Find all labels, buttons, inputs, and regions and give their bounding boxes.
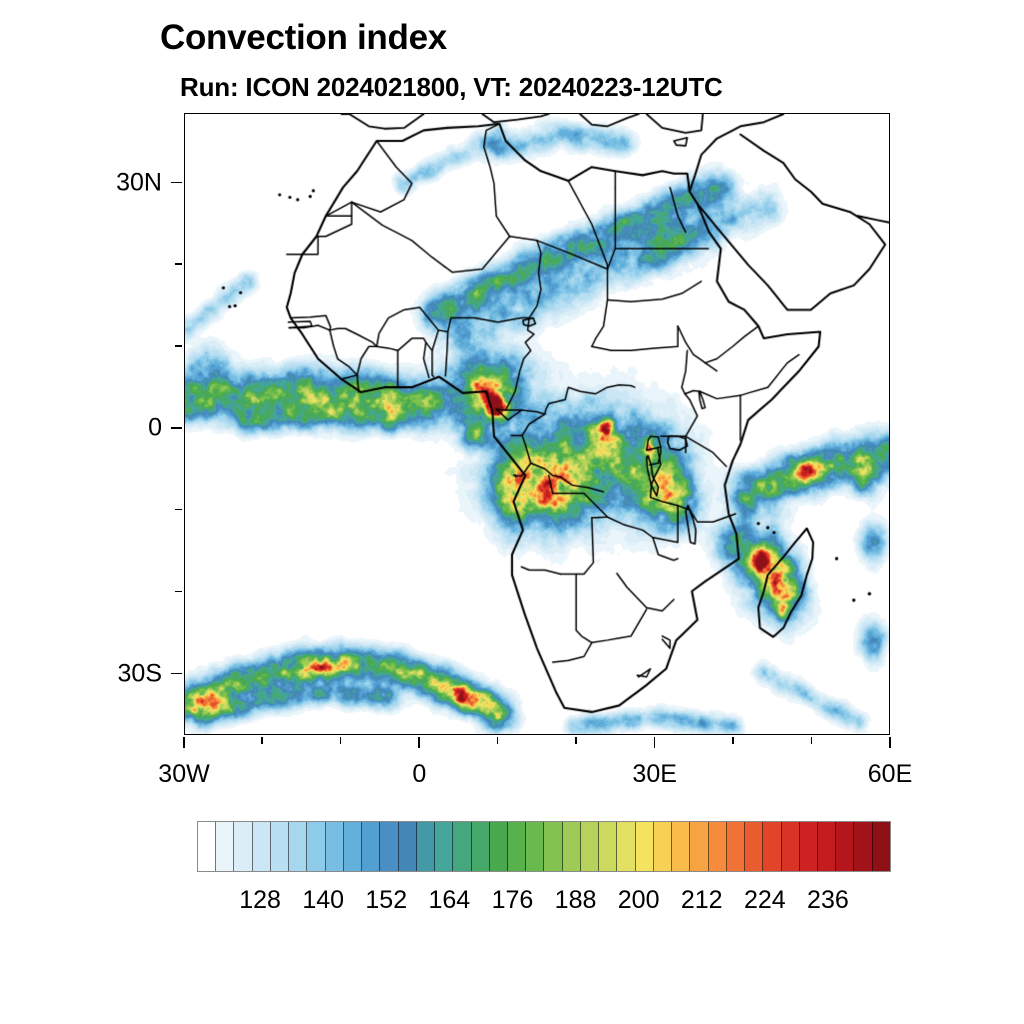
x-minor-tick	[811, 737, 812, 744]
colorbar-tick-label: 212	[681, 886, 723, 915]
colorbar-segment	[271, 822, 289, 871]
colorbar-tick-label: 176	[492, 886, 534, 915]
x-axis-label: 30E	[632, 760, 676, 789]
colorbar-segment	[234, 822, 252, 871]
x-minor-tick	[575, 737, 576, 744]
colorbar-tick-label: 224	[744, 886, 786, 915]
colorbar-segment	[763, 822, 781, 871]
x-axis-label: 0	[412, 760, 426, 789]
colorbar-tick-label: 128	[239, 886, 281, 915]
colorbar-segment	[417, 822, 435, 871]
y-major-tick	[171, 673, 182, 675]
colorbar-segment	[289, 822, 307, 871]
y-major-tick	[171, 427, 182, 429]
y-minor-tick	[175, 263, 182, 264]
colorbar-segment	[836, 822, 854, 871]
y-axis-label: 30S	[0, 659, 162, 688]
colorbar-segment	[727, 822, 745, 871]
colorbar-segment	[326, 822, 344, 871]
colorbar-segment	[344, 822, 362, 871]
colorbar-segment	[435, 822, 453, 871]
colorbar-segment	[818, 822, 836, 871]
colorbar-segment	[654, 822, 672, 871]
colorbar-segment	[690, 822, 708, 871]
y-major-tick	[171, 182, 182, 184]
y-axis-label: 30N	[0, 168, 162, 197]
page-title: Convection index	[160, 18, 447, 58]
x-minor-tick	[340, 737, 341, 744]
colorbar-segment	[216, 822, 234, 871]
colorbar-segment	[253, 822, 271, 871]
x-major-tick	[889, 737, 891, 748]
colorbar-segment	[873, 822, 890, 871]
colorbar-segment	[544, 822, 562, 871]
colorbar-tick-label: 152	[365, 886, 407, 915]
colorbar-segment	[307, 822, 325, 871]
x-minor-tick	[732, 737, 733, 744]
y-minor-tick	[175, 509, 182, 510]
convection-index-figure: Convection index Run: ICON 2024021800, V…	[0, 0, 1024, 1024]
colorbar-segment	[672, 822, 690, 871]
colorbar-segment	[198, 822, 216, 871]
colorbar-segment	[472, 822, 490, 871]
colorbar-segment	[399, 822, 417, 871]
colorbar-segment	[362, 822, 380, 871]
colorbar-tick-label: 140	[302, 886, 344, 915]
y-axis-label: 0	[0, 414, 162, 443]
colorbar-segment	[617, 822, 635, 871]
colorbar-tick-label: 200	[618, 886, 660, 915]
colorbar-segment	[581, 822, 599, 871]
colorbar-tick-label: 164	[429, 886, 471, 915]
colorbar-segment	[636, 822, 654, 871]
x-major-tick	[418, 737, 420, 748]
map-plot-area	[184, 113, 890, 735]
colorbar-segment	[854, 822, 872, 871]
x-minor-tick	[261, 737, 262, 744]
x-major-tick	[183, 737, 185, 748]
x-major-tick	[654, 737, 656, 748]
x-minor-tick	[497, 737, 498, 744]
x-axis-label: 30W	[158, 760, 209, 789]
colorbar-segment	[800, 822, 818, 871]
colorbar-segment	[380, 822, 398, 871]
colorbar-segment	[745, 822, 763, 871]
colorbar-tick-label: 236	[807, 886, 849, 915]
y-minor-tick	[175, 345, 182, 346]
colorbar-tick-label: 188	[555, 886, 597, 915]
colorbar-segment	[709, 822, 727, 871]
convection-index-map	[185, 114, 889, 734]
colorbar-segment	[453, 822, 471, 871]
x-axis-label: 60E	[868, 760, 912, 789]
page-subtitle: Run: ICON 2024021800, VT: 20240223-12UTC	[180, 72, 723, 103]
colorbar	[197, 821, 891, 872]
colorbar-segment	[526, 822, 544, 871]
colorbar-segment	[599, 822, 617, 871]
colorbar-segment	[490, 822, 508, 871]
colorbar-segment	[782, 822, 800, 871]
colorbar-segment	[508, 822, 526, 871]
colorbar-segment	[563, 822, 581, 871]
y-minor-tick	[175, 591, 182, 592]
